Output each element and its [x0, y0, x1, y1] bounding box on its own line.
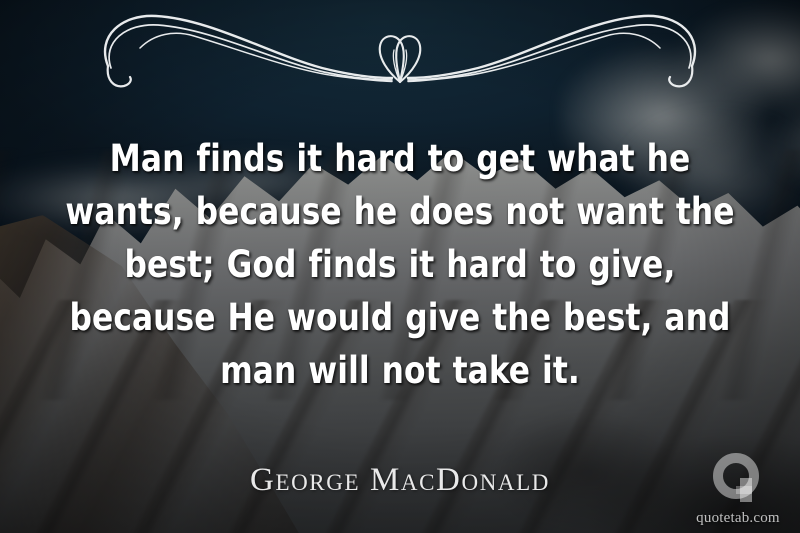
quote-text: Man finds it hard to get what he wants, … [50, 132, 749, 397]
flourish-svg [70, 6, 730, 98]
flourish-divider-icon [70, 6, 730, 98]
quotetab-logo-icon[interactable] [710, 452, 766, 508]
logo-q-svg [710, 452, 766, 508]
author-name: George MacDonald [0, 462, 800, 499]
quote-line: best; God finds it hard to give, [50, 238, 749, 291]
quote-line: wants, because he does not want the [50, 185, 749, 238]
watermark-site-text[interactable]: quotetab.com [686, 510, 790, 527]
quote-line: because He would give the best, and [50, 291, 749, 344]
quote-line: Man finds it hard to get what he [50, 132, 749, 185]
card-content: Man finds it hard to get what he wants, … [0, 0, 800, 533]
quote-image-card: Man finds it hard to get what he wants, … [0, 0, 800, 533]
quote-line: man will not take it. [50, 344, 749, 397]
watermark[interactable]: quotetab.com [686, 452, 790, 527]
